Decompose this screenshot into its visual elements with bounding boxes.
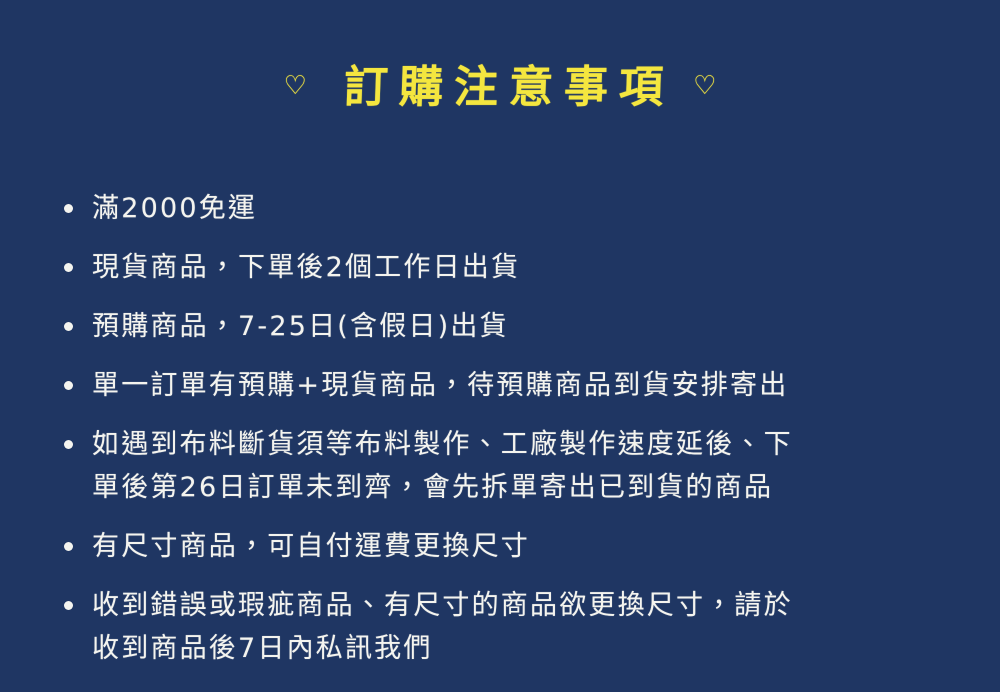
list-item-line: 有尺寸商品，可自付運費更換尺寸 <box>92 524 962 569</box>
bullet-icon <box>64 542 73 551</box>
list-item: 滿2000免運 <box>62 186 962 231</box>
page-title-text: 訂購注意事項 <box>333 66 675 110</box>
list-item-line: 現貨商品，下單後2個工作日出貨 <box>92 245 962 290</box>
bullet-icon <box>64 601 73 610</box>
order-notice-card: ♡ 訂購注意事項 ♡ 滿2000免運 現貨商品，下單後2個工作日出貨 預購商品，… <box>0 0 1000 692</box>
bullet-icon <box>64 381 73 390</box>
list-item-line: 單一訂單有預購+現貨商品，待預購商品到貨安排寄出 <box>92 363 962 408</box>
page-title: ♡ 訂購注意事項 ♡ <box>0 66 1000 110</box>
notice-list: 滿2000免運 現貨商品，下單後2個工作日出貨 預購商品，7-25日(含假日)出… <box>62 186 962 685</box>
list-item: 單一訂單有預購+現貨商品，待預購商品到貨安排寄出 <box>62 363 962 408</box>
bullet-icon <box>64 204 73 213</box>
list-item: 有尺寸商品，可自付運費更換尺寸 <box>62 524 962 569</box>
list-item-line: 如遇到布料斷貨須等布料製作、工廠製作速度延後、下 <box>92 422 962 467</box>
list-item: 收到錯誤或瑕疵商品、有尺寸的商品欲更換尺寸，請於 收到商品後7日內私訊我們 <box>62 583 962 671</box>
list-item-line: 滿2000免運 <box>92 186 962 231</box>
list-item-line: 收到商品後7日內私訊我們 <box>92 626 962 671</box>
list-item-line: 預購商品，7-25日(含假日)出貨 <box>92 304 962 349</box>
list-item-line: 收到錯誤或瑕疵商品、有尺寸的商品欲更換尺寸，請於 <box>92 583 962 628</box>
bullet-icon <box>64 440 73 449</box>
list-item: 如遇到布料斷貨須等布料製作、工廠製作速度延後、下 單後第26日訂單未到齊，會先拆… <box>62 422 962 510</box>
bullet-icon <box>64 263 73 272</box>
bullet-icon <box>64 322 73 331</box>
heart-icon-right: ♡ <box>693 73 716 99</box>
list-item: 預購商品，7-25日(含假日)出貨 <box>62 304 962 349</box>
heart-icon-left: ♡ <box>284 73 307 99</box>
list-item-line: 單後第26日訂單未到齊，會先拆單寄出已到貨的商品 <box>92 465 962 510</box>
list-item: 現貨商品，下單後2個工作日出貨 <box>62 245 962 290</box>
